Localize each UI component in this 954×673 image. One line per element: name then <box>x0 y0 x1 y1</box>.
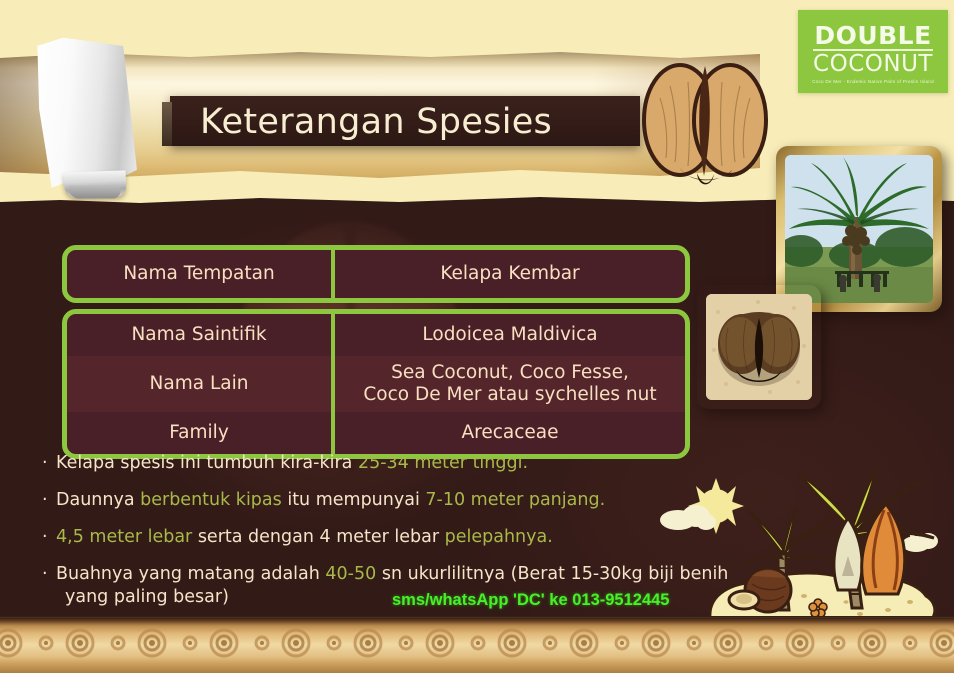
table-cell-label: Nama Tempatan <box>67 250 335 298</box>
logo-line-2: COCONUT <box>813 49 933 76</box>
coconut-line-art-icon <box>640 58 770 193</box>
table-row: Nama Lain Sea Coconut, Coco Fesse, Coco … <box>67 356 685 412</box>
paper-scroll-icon <box>31 32 140 200</box>
logo-tagline: Coco De Mer - Endemic Native Palm of Pra… <box>812 79 934 84</box>
double-coconut-nut-image <box>706 294 812 400</box>
fact-text: Daunnya <box>56 490 140 510</box>
bullet-dot-icon: · <box>42 526 48 549</box>
fact-text: Kelapa spesis ini tumbuh kira-kira <box>56 453 358 473</box>
fact-item: ·Daunnya berbentuk kipas itu mempunyai 7… <box>42 489 742 512</box>
fact-highlight: 7-10 meter panjang. <box>425 490 605 510</box>
bullet-dot-icon: · <box>42 563 48 586</box>
table-row: Family Arecaceae <box>67 412 685 454</box>
infographic-poster: Keterangan Spesies DOUBLE COCONUT <box>0 0 954 673</box>
fact-text: serta dengan 4 meter lebar <box>198 527 445 547</box>
fact-item: ·4,5 meter lebar serta dengan 4 meter le… <box>42 526 742 549</box>
page-title: Keterangan Spesies <box>200 98 620 146</box>
logo-line-1: DOUBLE <box>814 23 931 49</box>
fact-highlight: pelepahnya. <box>445 527 553 547</box>
double-coconut-nut-photo[interactable] <box>697 285 821 409</box>
table-cell-value: Arecaceae <box>335 412 685 454</box>
fact-highlight: berbentuk kipas <box>140 490 287 510</box>
fact-text: yang paling besar) <box>56 586 229 609</box>
table-row: Nama Saintifik Lodoicea Maldivica <box>67 314 685 356</box>
table-cell-label: Family <box>67 412 335 454</box>
beach-scene-illustration <box>648 468 954 638</box>
species-table: Nama Tempatan Kelapa Kembar Nama Saintif… <box>62 245 690 459</box>
fact-item: ·Kelapa spesis ini tumbuh kira-kira 25-3… <box>42 452 742 475</box>
fact-text: Buahnya yang matang adalah <box>56 564 325 584</box>
palm-tree-photo-image <box>785 155 933 303</box>
scroll-curl-shadow <box>69 185 121 198</box>
table-cell-value: Sea Coconut, Coco Fesse, Coco De Mer ata… <box>335 356 685 412</box>
fact-highlight: 25-34 meter tinggi. <box>358 453 528 473</box>
table-cell-value: Kelapa Kembar <box>335 250 685 298</box>
bottom-decorative-border <box>0 618 954 673</box>
contact-line[interactable]: sms/whatsApp 'DC' ke 013-9512445 <box>392 591 670 610</box>
table-cell-label: Nama Lain <box>67 356 335 412</box>
fact-highlight: 40-50 <box>325 564 381 584</box>
table-row: Nama Tempatan Kelapa Kembar <box>62 245 690 303</box>
border-dot-pattern <box>0 627 954 659</box>
brand-logo[interactable]: DOUBLE COCONUT Coco De Mer - Endemic Nat… <box>798 10 948 93</box>
table-cell-value: Lodoicea Maldivica <box>335 314 685 356</box>
table-cell-label: Nama Saintifik <box>67 314 335 356</box>
table-body: Nama Saintifik Lodoicea Maldivica Nama L… <box>62 309 690 459</box>
fact-text: itu mempunyai <box>287 490 425 510</box>
scroll-page <box>31 32 139 190</box>
fact-highlight: 4,5 meter lebar <box>56 527 198 547</box>
bullet-dot-icon: · <box>42 489 48 512</box>
bullet-dot-icon: · <box>42 452 48 475</box>
